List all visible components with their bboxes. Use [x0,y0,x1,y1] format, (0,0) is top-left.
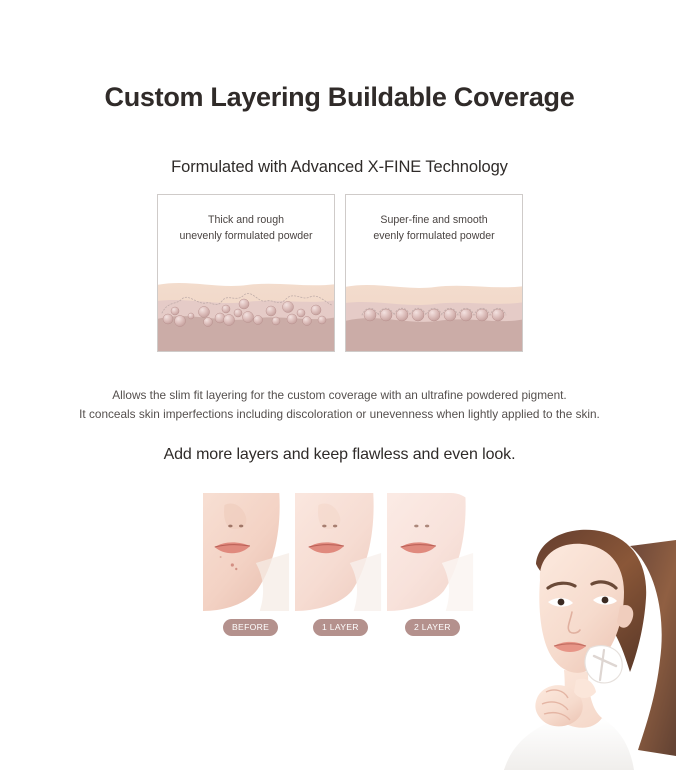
page-title: Custom Layering Buildable Coverage [0,82,679,113]
badge-before: BEFORE [223,619,278,636]
result-photo-one-layer [295,493,385,611]
panel-caption-line2: evenly formulated powder [346,228,522,244]
page-subtitle: Formulated with Advanced X-FINE Technolo… [0,158,679,177]
panel-caption-even: Super-fine and smooth evenly formulated … [346,212,522,244]
result-photo-before [203,493,293,611]
description-paragraph: Allows the slim fit layering for the cus… [0,386,679,424]
badge-two-layer: 2 LAYER [405,619,460,636]
description-line-2: It conceals skin imperfections including… [0,405,679,424]
description-line-1: Allows the slim fit layering for the cus… [0,386,679,405]
comparison-panel-uneven: Thick and rough unevenly formulated powd… [157,194,335,352]
model-photo [480,520,679,770]
powder-particles-even [346,261,523,351]
panel-caption-line2: unevenly formulated powder [158,228,334,244]
lead-statement: Add more layers and keep flawless and ev… [0,446,679,464]
panel-caption-uneven: Thick and rough unevenly formulated powd… [158,212,334,244]
badge-one-layer: 1 LAYER [313,619,368,636]
result-photo-two-layer [387,493,477,611]
powder-comparison-diagram: Thick and rough unevenly formulated powd… [157,194,525,354]
powder-particles-uneven [158,261,335,351]
results-badge-row: BEFORE 1 LAYER 2 LAYER [203,619,477,637]
panel-caption-line1: Thick and rough [158,212,334,228]
comparison-panel-even: Super-fine and smooth evenly formulated … [345,194,523,352]
results-photo-strip [203,493,477,611]
panel-caption-line1: Super-fine and smooth [346,212,522,228]
